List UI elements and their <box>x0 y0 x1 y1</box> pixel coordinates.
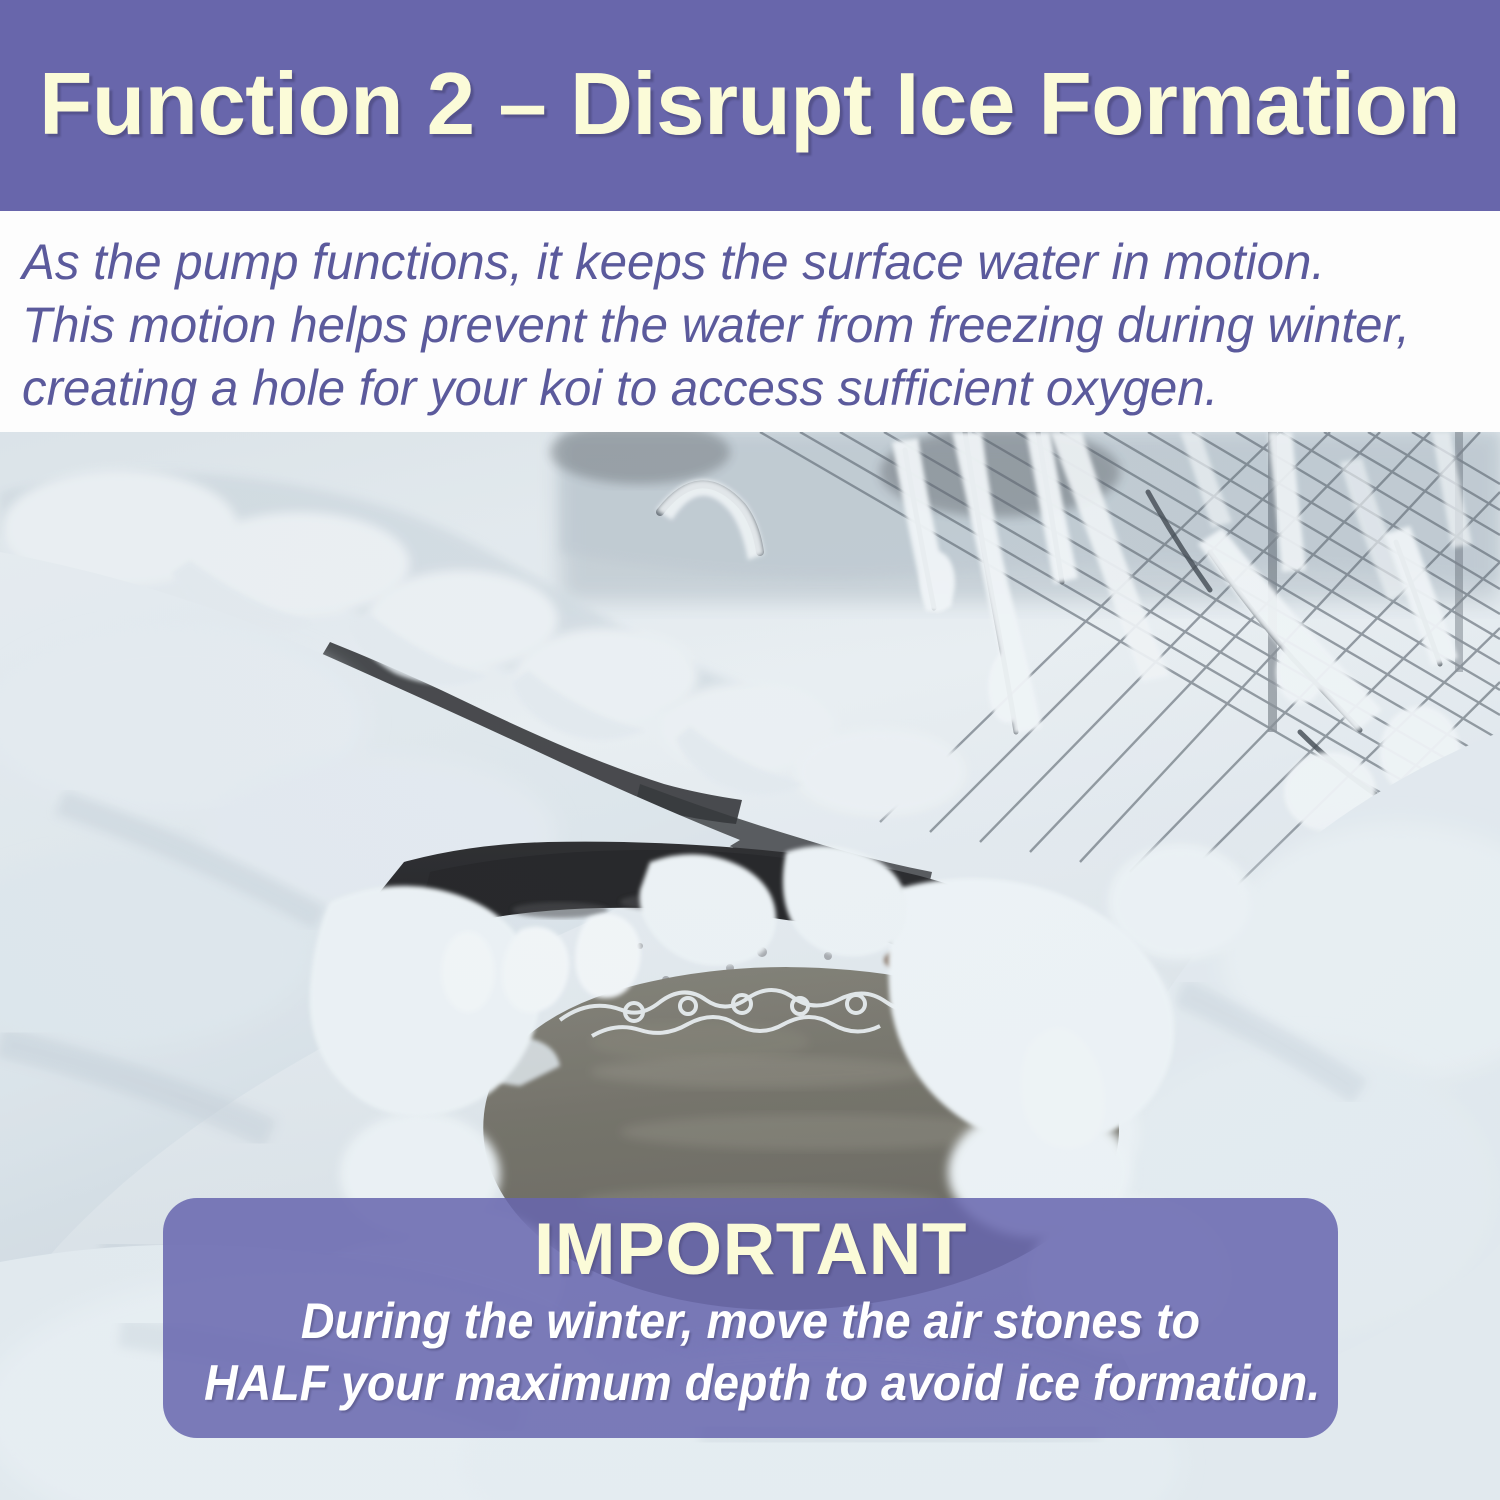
intro-text-block: As the pump functions, it keeps the surf… <box>0 211 1500 432</box>
intro-line-2: This motion helps prevent the water from… <box>22 294 1456 357</box>
important-line-2: HALF your maximum depth to avoid ice for… <box>204 1352 1297 1414</box>
infographic-panel: Function 2 – Disrupt Ice Formation As th… <box>0 0 1500 1500</box>
page-title: Function 2 – Disrupt Ice Formation <box>40 60 1461 152</box>
intro-line-3: creating a hole for your koi to access s… <box>22 357 1456 420</box>
important-line-1: During the winter, move the air stones t… <box>204 1290 1297 1352</box>
intro-line-1: As the pump functions, it keeps the surf… <box>22 231 1456 294</box>
important-callout-box: IMPORTANT During the winter, move the ai… <box>163 1198 1338 1438</box>
important-heading: IMPORTANT <box>163 1210 1338 1290</box>
header-band: Function 2 – Disrupt Ice Formation <box>0 0 1500 211</box>
